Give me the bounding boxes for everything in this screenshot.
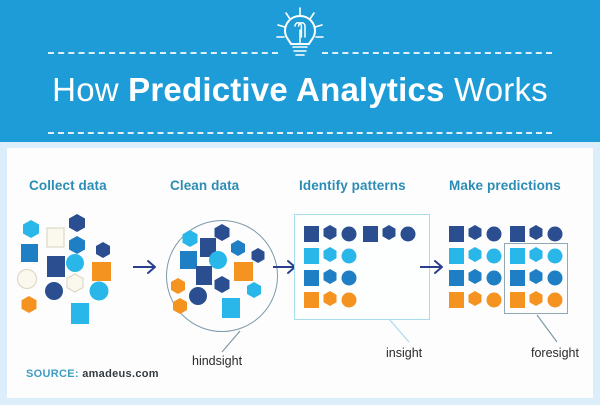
page-title: How Predictive Analytics Works xyxy=(0,58,600,122)
source-label: SOURCE: xyxy=(26,368,79,380)
source-value: amadeus.com xyxy=(82,368,159,380)
title-part-1: How xyxy=(52,71,128,108)
leader-line-foresight xyxy=(535,314,567,344)
lightbulb-icon xyxy=(268,6,332,62)
annotation-hindsight: hindsight xyxy=(192,354,242,368)
title-part-bold: Predictive Analytics xyxy=(128,71,444,108)
pattern-grid-identify xyxy=(289,148,439,403)
header-dashed-rule-bottom xyxy=(48,132,552,134)
leader-line-insight xyxy=(387,318,423,344)
step-make-predictions: Make predictions xyxy=(435,148,593,398)
content-card: Collect data xyxy=(7,148,593,398)
foresight-highlight-box xyxy=(504,243,568,314)
header-band: How Predictive Analytics Works xyxy=(0,0,600,142)
infographic-root: How Predictive Analytics Works Collect d… xyxy=(0,0,600,405)
title-part-2: Works xyxy=(445,71,548,108)
source-line: SOURCE: amadeus.com xyxy=(26,368,159,380)
annotation-insight: insight xyxy=(386,346,422,360)
annotation-foresight: foresight xyxy=(531,346,579,360)
header-dashed-rule-left xyxy=(48,52,278,54)
leader-line-hindsight xyxy=(208,330,244,354)
header-dashed-rule-right xyxy=(322,52,552,54)
step-identify-patterns: Identify patterns xyxy=(289,148,439,398)
